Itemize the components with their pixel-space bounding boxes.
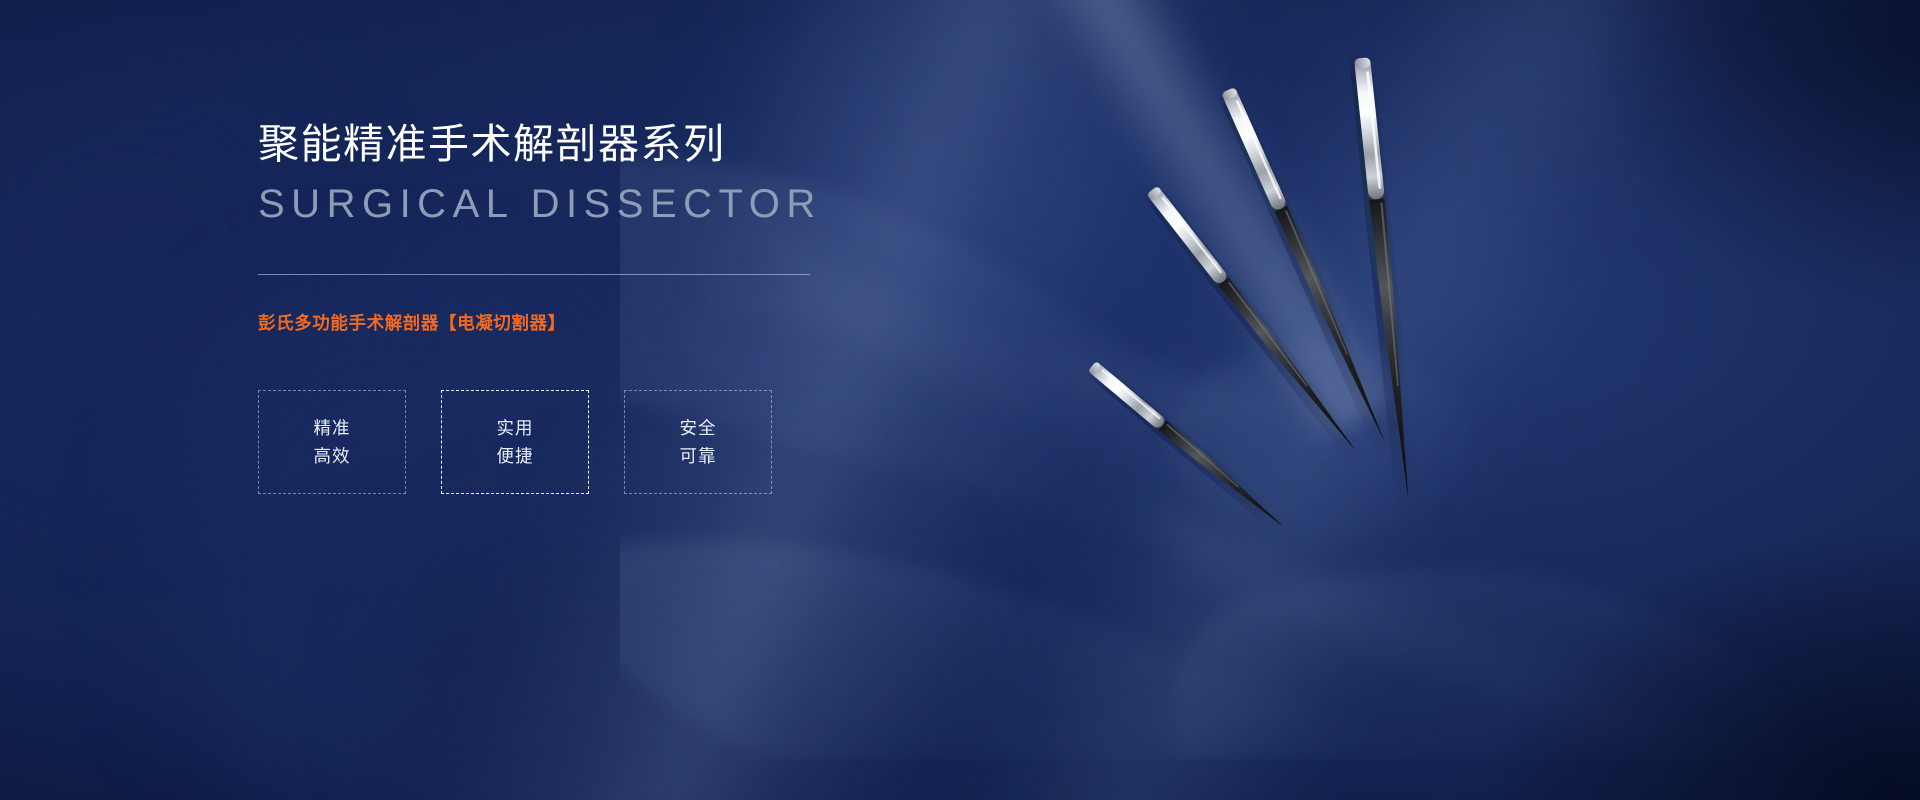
feature-line-2: 便捷: [497, 442, 534, 470]
feature-line-1: 安全: [680, 414, 717, 442]
feature-line-1: 精准: [314, 414, 351, 442]
page-title: 聚能精准手术解剖器系列: [258, 120, 938, 168]
product-name-label: 彭氏多功能手术解剖器【电凝切割器】: [258, 310, 938, 335]
feature-box-safety[interactable]: 安全 可靠: [624, 390, 772, 494]
feature-line-2: 高效: [314, 442, 351, 470]
feature-line-2: 可靠: [680, 442, 717, 470]
page-subtitle-english: SURGICAL DISSECTOR: [258, 180, 938, 229]
product-instruments-image: [1160, 30, 1920, 590]
feature-box-practical[interactable]: 实用 便捷: [441, 390, 589, 494]
feature-line-1: 实用: [497, 414, 534, 442]
feature-list: 精准 高效 实用 便捷 安全 可靠: [258, 390, 938, 494]
feature-box-precision[interactable]: 精准 高效: [258, 390, 406, 494]
divider: [258, 274, 810, 275]
hero-banner: 聚能精准手术解剖器系列 SURGICAL DISSECTOR 彭氏多功能手术解剖…: [0, 0, 1920, 800]
banner-content: 聚能精准手术解剖器系列 SURGICAL DISSECTOR 彭氏多功能手术解剖…: [258, 120, 938, 494]
